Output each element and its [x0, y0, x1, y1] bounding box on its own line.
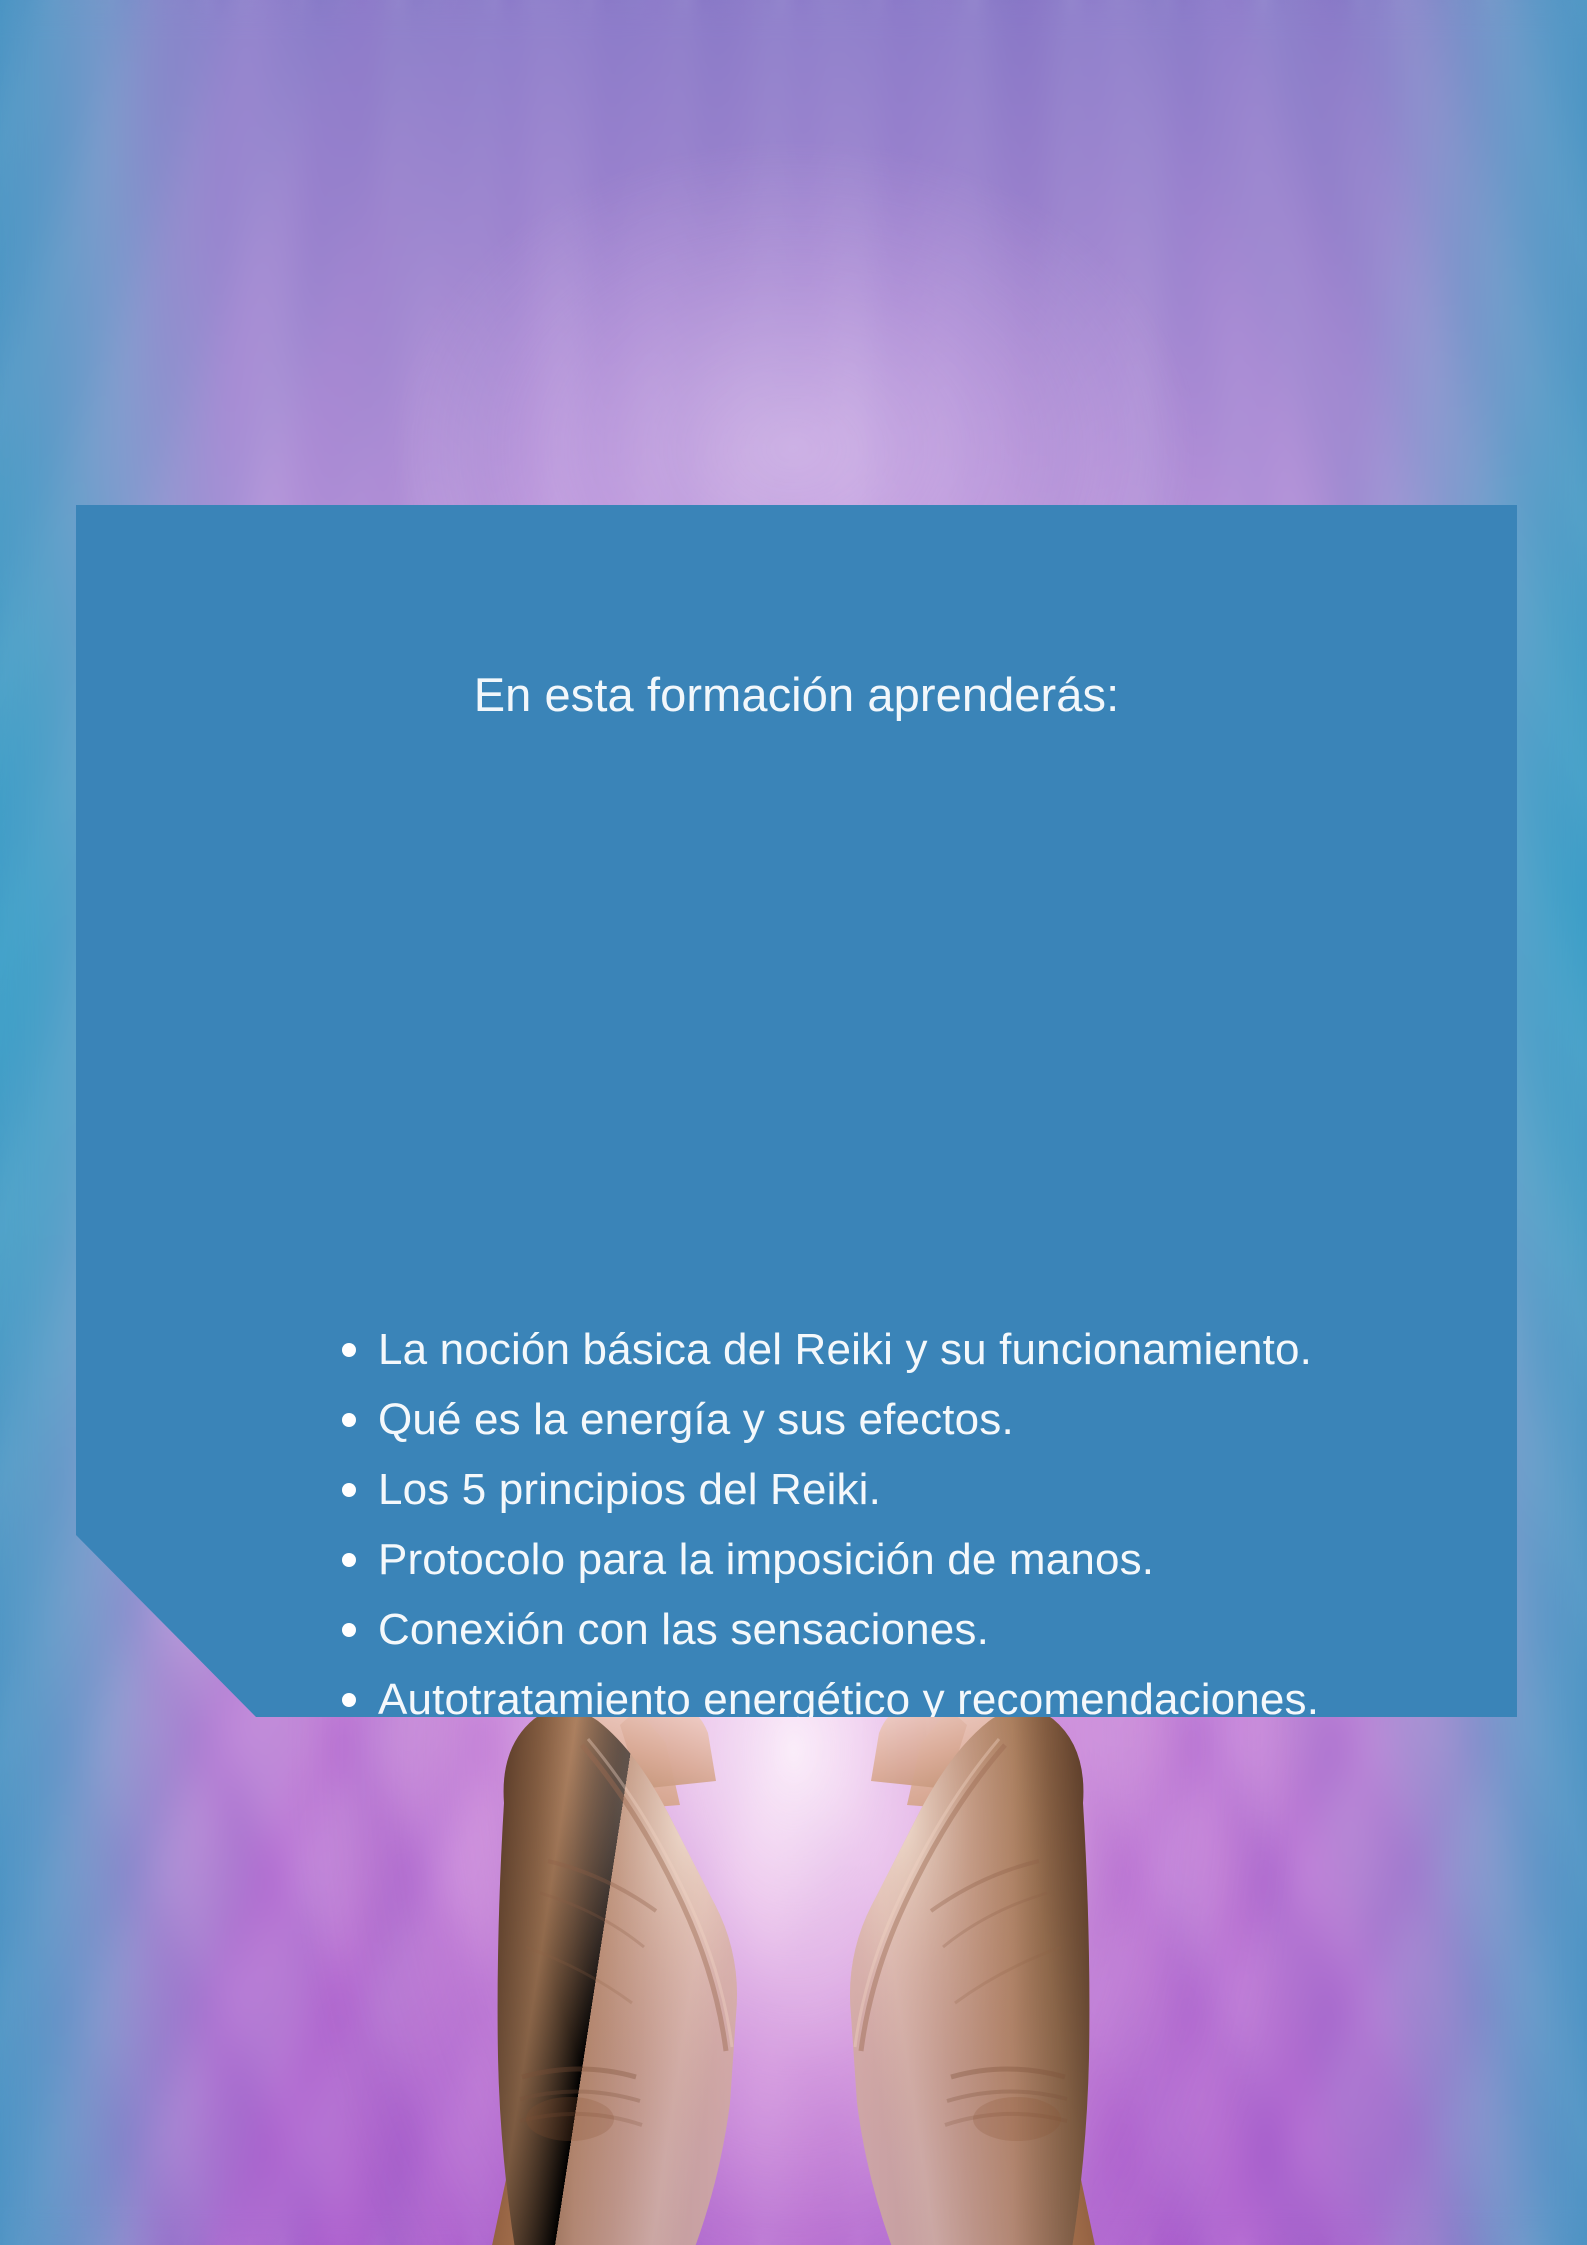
bullet-icon [342, 1973, 356, 1987]
list-item-label: Descripción y comprensión de los chakras… [378, 1885, 1221, 1934]
list-item-label: Los cristales de cuarzo. [378, 1745, 844, 1794]
list-item-label: La Meditación Vipassana. [378, 1815, 885, 1864]
list-item: Los 5 principios del Reiki. [332, 1455, 1319, 1525]
list-item-label: Conexión con las sensaciones. [378, 1605, 989, 1654]
bullet-icon [342, 1553, 356, 1567]
list-item: Los cristales de cuarzo. [332, 1735, 1319, 1805]
bullet-icon [342, 1483, 356, 1497]
list-item: Autotratamiento energético y recomendaci… [332, 1665, 1319, 1735]
bullet-icon [342, 1343, 356, 1357]
reiki-training-poster: En esta formación aprenderás: La noción … [0, 0, 1587, 2245]
list-item: Descripción y comprensión de los chakras… [332, 1875, 1319, 1945]
bullet-icon [342, 1833, 356, 1847]
hand-right [827, 1685, 1157, 2245]
list-item: Qué es la energía y sus efectos. [332, 1385, 1319, 1455]
bullet-icon [342, 1413, 356, 1427]
bullet-icon [342, 1763, 356, 1777]
hand-left [430, 1685, 760, 2245]
bullet-icon [342, 1693, 356, 1707]
bullet-icon [342, 1623, 356, 1637]
list-item-label: Programación del agua. [378, 1955, 848, 2004]
list-item: La noción básica del Reiki y su funciona… [332, 1315, 1319, 1385]
list-item: Protocolo para la imposición de manos. [332, 1525, 1319, 1595]
panel-heading: En esta formación aprenderás: [76, 671, 1517, 718]
cupped-hands-image [0, 1685, 1587, 2245]
list-item: Conexión con las sensaciones. [332, 1595, 1319, 1665]
list-item-label: La noción básica del Reiki y su funciona… [378, 1325, 1312, 1374]
content-panel: En esta formación aprenderás: La noción … [76, 505, 1517, 1717]
list-item-label: Autotratamiento energético y recomendaci… [378, 1675, 1319, 1724]
list-item: Programación del agua. [332, 1945, 1319, 2015]
bullet-icon [342, 1903, 356, 1917]
list-item: La Meditación Vipassana. [332, 1805, 1319, 1875]
list-item-label: Qué es la energía y sus efectos. [378, 1395, 1014, 1444]
curriculum-list: La noción básica del Reiki y su funciona… [332, 1315, 1319, 2015]
list-item-label: Los 5 principios del Reiki. [378, 1465, 881, 1514]
content-panel-inner: En esta formación aprenderás: La noción … [76, 505, 1517, 1717]
list-item-label: Protocolo para la imposición de manos. [378, 1535, 1154, 1584]
